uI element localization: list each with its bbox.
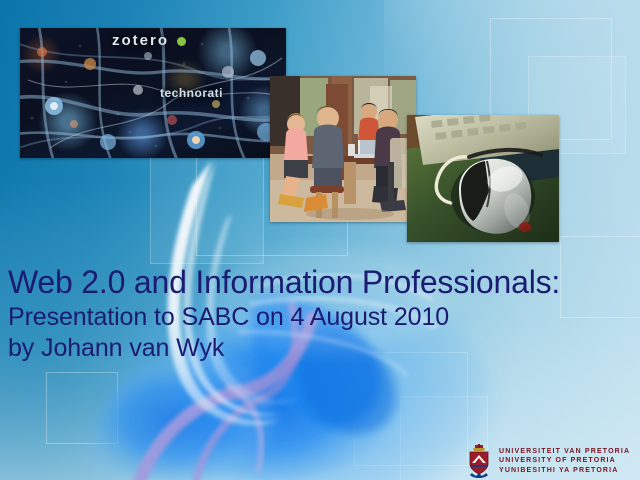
university-logo-text: UNIVERSITEIT VAN PRETORIA UNIVERSITY OF … bbox=[499, 447, 630, 475]
network-visualization-image: zotero technorati bbox=[20, 28, 286, 158]
logo-line-sepedi: YUNIBESITHI YA PRETORIA bbox=[499, 466, 630, 475]
university-crest-icon bbox=[466, 444, 492, 478]
decorative-square-outline bbox=[46, 372, 118, 444]
decorative-square-outline bbox=[150, 150, 264, 264]
presentation-title-slide: zotero technorati bbox=[0, 0, 640, 480]
slide-subtitle-line-2: by Johann van Wyk bbox=[8, 333, 640, 364]
mouse-and-keyboard-image bbox=[407, 115, 559, 242]
slide-title: Web 2.0 and Information Professionals: bbox=[8, 262, 640, 302]
students-scene-graphic bbox=[270, 76, 416, 222]
mouse-scene-graphic bbox=[407, 115, 559, 242]
logo-line-english: UNIVERSITY OF PRETORIA bbox=[499, 456, 630, 465]
university-of-pretoria-logo: UNIVERSITEIT VAN PRETORIA UNIVERSITY OF … bbox=[466, 443, 634, 479]
network-label-technorati: technorati bbox=[160, 86, 223, 100]
students-with-laptops-image bbox=[270, 76, 416, 222]
slide-subtitle-line-1: Presentation to SABC on 4 August 2010 bbox=[8, 302, 640, 333]
decorative-square-outline bbox=[354, 352, 468, 466]
network-label-zotero: zotero bbox=[112, 32, 169, 49]
logo-line-afrikaans: UNIVERSITEIT VAN PRETORIA bbox=[499, 447, 630, 456]
title-text-block: Web 2.0 and Information Professionals: P… bbox=[8, 262, 640, 364]
zotero-logo-dot bbox=[177, 37, 186, 46]
